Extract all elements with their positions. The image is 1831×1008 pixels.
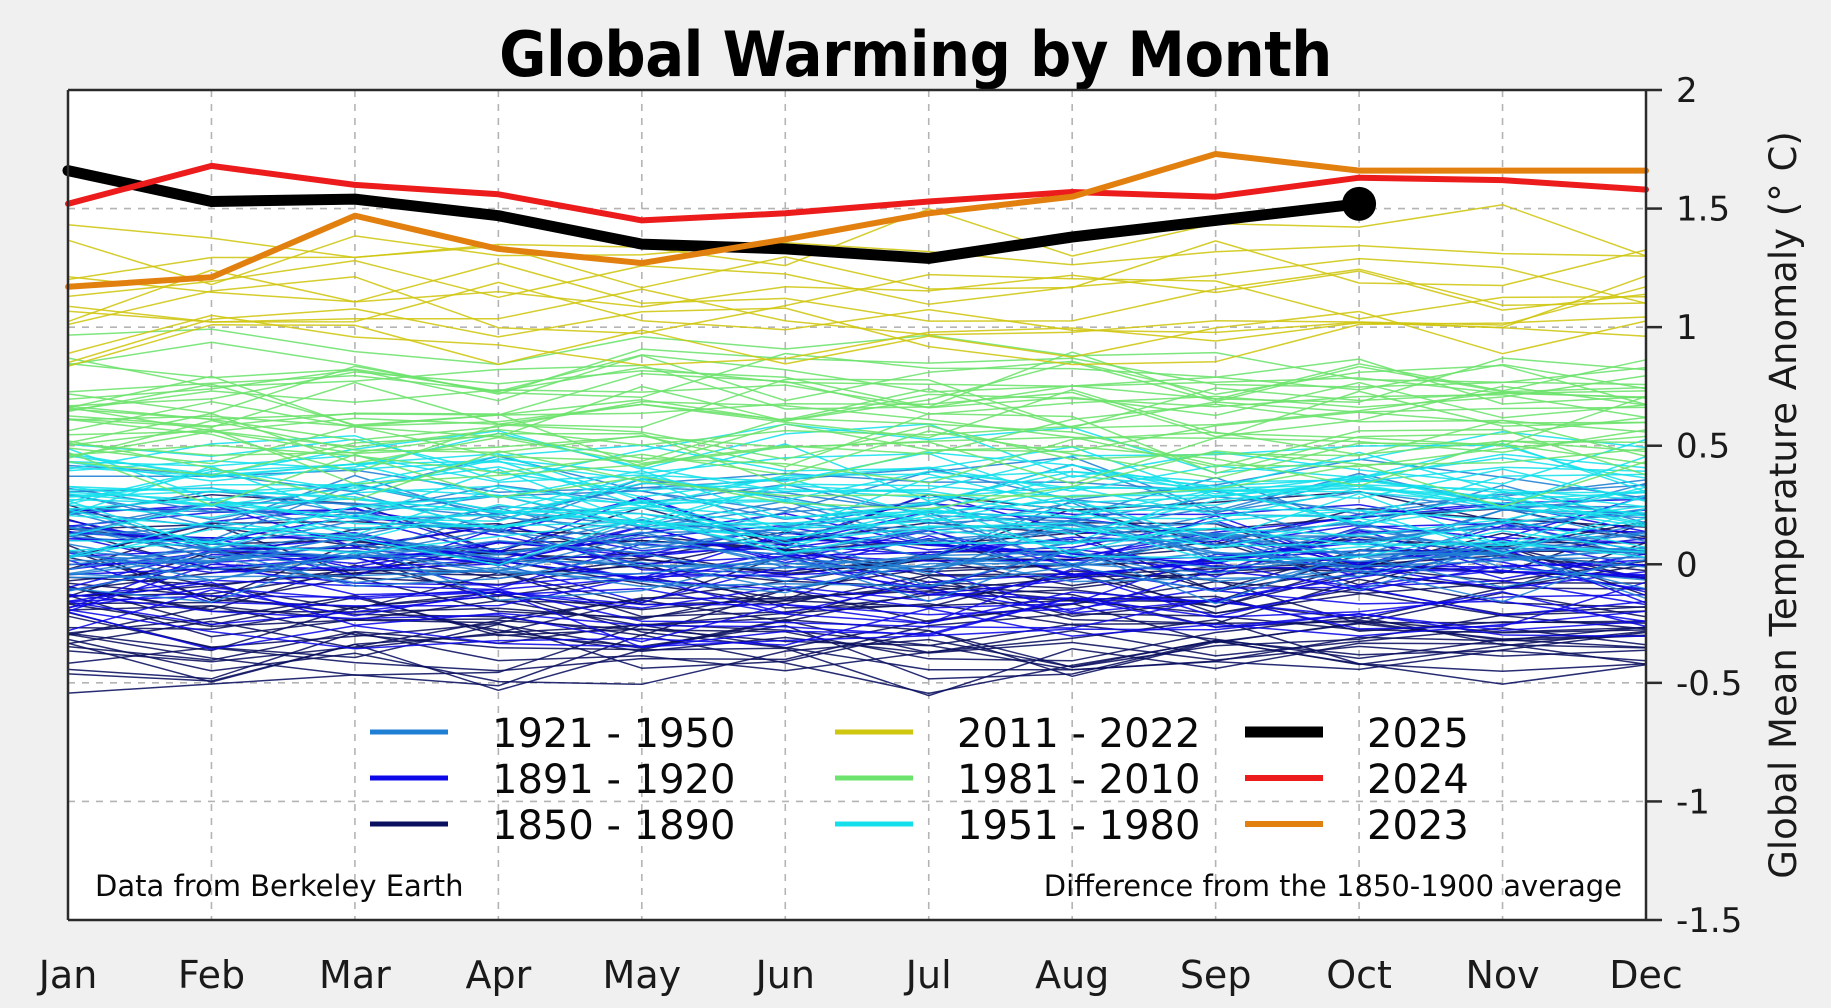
legend-label: 2023: [1367, 803, 1469, 849]
x-tick-label: Dec: [1609, 953, 1683, 997]
x-tick-label: Oct: [1326, 953, 1392, 997]
y-tick-label: 1.5: [1676, 190, 1730, 230]
y-tick-label: 0.5: [1676, 427, 1730, 467]
legend-label: 1951 - 1980: [957, 803, 1200, 849]
y-axis-title: Global Mean Temperature Anomaly (° C): [1762, 131, 1805, 879]
x-tick-label: May: [603, 953, 682, 997]
legend-label: 1891 - 1920: [492, 757, 735, 803]
y-axis-ticks: 21.510.50-0.5-1-1.5: [1646, 71, 1742, 941]
x-tick-label: Jul: [904, 953, 952, 997]
x-tick-label: Apr: [465, 953, 531, 997]
y-tick-label: -1.5: [1676, 901, 1742, 941]
chart-root: Global Warming by Month 21.510.50-0.5-1-…: [0, 0, 1831, 1008]
x-tick-label: Jan: [37, 953, 98, 997]
x-axis-ticks: JanFebMarAprMayJunJulAugSepOctNovDec: [37, 953, 1683, 997]
legend-label: 1981 - 2010: [957, 757, 1200, 803]
source-note: Data from Berkeley Earth: [95, 869, 463, 903]
legend-label: 2011 - 2022: [957, 711, 1200, 757]
x-tick-label: Aug: [1035, 953, 1109, 997]
y-tick-label: 1: [1676, 308, 1698, 348]
legend-label: 1850 - 1890: [492, 803, 735, 849]
baseline-note: Difference from the 1850-1900 average: [1044, 869, 1622, 903]
legend-label: 2025: [1367, 711, 1469, 757]
y-tick-label: -0.5: [1676, 664, 1742, 704]
x-tick-label: Feb: [178, 953, 245, 997]
legend-label: 1921 - 1950: [492, 711, 735, 757]
x-tick-label: Sep: [1180, 953, 1252, 997]
x-tick-label: Mar: [319, 953, 391, 997]
y-tick-label: 0: [1676, 545, 1698, 585]
x-tick-label: Nov: [1465, 953, 1539, 997]
x-tick-label: Jun: [754, 953, 815, 997]
y-tick-label: 2: [1676, 71, 1698, 111]
legend-label: 2024: [1367, 757, 1469, 803]
global-warming-line-chart: 21.510.50-0.5-1-1.5 JanFebMarAprMayJunJu…: [0, 0, 1831, 1008]
y-tick-label: -1: [1676, 782, 1710, 822]
